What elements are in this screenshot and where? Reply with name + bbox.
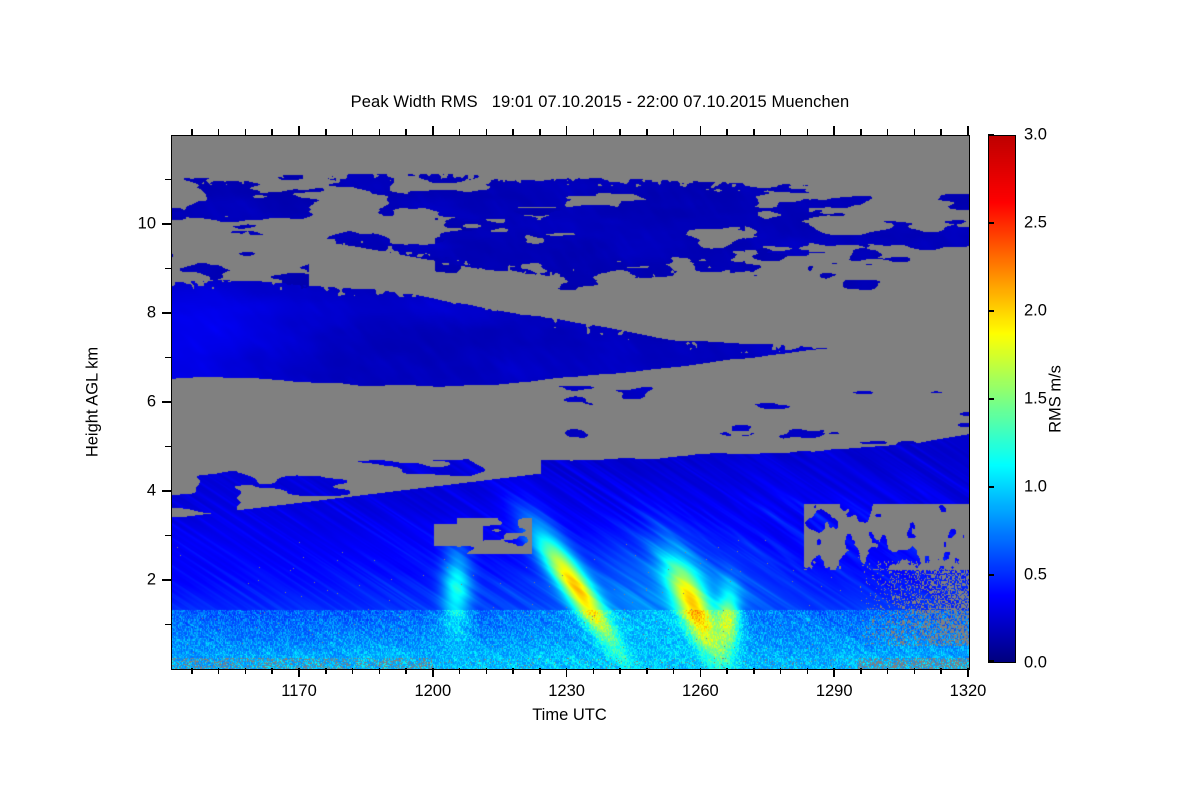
x-top-minor-tick — [245, 129, 247, 135]
x-top-minor-tick — [593, 129, 595, 135]
x-major-tick — [566, 668, 568, 677]
x-minor-tick — [486, 668, 488, 674]
x-minor-tick — [807, 668, 809, 674]
y-tick-label: 10 — [0, 215, 156, 234]
x-top-minor-tick — [860, 129, 862, 135]
x-minor-tick — [271, 668, 273, 674]
x-top-minor-tick — [940, 129, 942, 135]
colorbar-tick — [988, 222, 994, 224]
x-tick-label: 1260 — [682, 682, 719, 701]
colorbar-tick-label: 3.0 — [1024, 126, 1047, 145]
colorbar-tick-label: 0.5 — [1024, 566, 1047, 585]
y-minor-tick — [165, 624, 171, 626]
y-major-tick — [162, 312, 171, 314]
x-minor-tick — [405, 668, 407, 674]
x-top-minor-tick — [405, 129, 407, 135]
y-major-tick — [162, 490, 171, 492]
x-major-tick — [833, 668, 835, 677]
x-top-minor-tick — [379, 129, 381, 135]
colorbar-tick — [988, 486, 994, 488]
x-minor-tick — [459, 668, 461, 674]
x-top-tick — [967, 126, 969, 135]
colorbar-tick — [988, 310, 994, 312]
x-minor-tick — [780, 668, 782, 674]
x-tick-label: 1320 — [950, 682, 987, 701]
x-top-minor-tick — [486, 129, 488, 135]
x-minor-tick — [887, 668, 889, 674]
y-tick-label: 2 — [0, 571, 156, 590]
colorbar: RMS m/s 0.00.51.01.52.02.53.0 — [988, 135, 1016, 663]
x-tick-label: 1200 — [414, 682, 451, 701]
x-top-minor-tick — [780, 129, 782, 135]
x-top-minor-tick — [191, 129, 193, 135]
colorbar-tick-label: 2.0 — [1024, 302, 1047, 321]
x-top-minor-tick — [539, 129, 541, 135]
x-top-minor-tick — [459, 129, 461, 135]
x-minor-tick — [512, 668, 514, 674]
colorbar-tick-label: 1.5 — [1024, 390, 1047, 409]
x-minor-tick — [860, 668, 862, 674]
x-tick-label: 1290 — [816, 682, 853, 701]
colorbar-axis-label: RMS m/s — [1047, 365, 1066, 433]
colorbar-tick — [988, 398, 994, 400]
y-axis-label: Height AGL km — [84, 346, 103, 456]
x-minor-tick — [379, 668, 381, 674]
colorbar-tick — [988, 660, 994, 662]
x-major-tick — [298, 668, 300, 677]
plot-area — [171, 135, 970, 670]
x-minor-tick — [245, 668, 247, 674]
colorbar-tick-label: 1.0 — [1024, 478, 1047, 497]
colorbar-tick-label: 0.0 — [1024, 654, 1047, 673]
y-tick-label: 6 — [0, 393, 156, 412]
x-minor-tick — [593, 668, 595, 674]
x-top-minor-tick — [673, 129, 675, 135]
x-top-minor-tick — [619, 129, 621, 135]
x-top-minor-tick — [887, 129, 889, 135]
x-major-tick — [432, 668, 434, 677]
x-top-tick — [700, 126, 702, 135]
y-minor-tick — [165, 535, 171, 537]
x-minor-tick — [646, 668, 648, 674]
x-top-minor-tick — [352, 129, 354, 135]
colorbar-tick-label: 2.5 — [1024, 214, 1047, 233]
x-minor-tick — [325, 668, 327, 674]
x-top-tick — [432, 126, 434, 135]
colorbar-tick — [988, 574, 994, 576]
y-major-tick — [162, 579, 171, 581]
heatmap-canvas — [172, 136, 969, 669]
x-minor-tick — [726, 668, 728, 674]
x-top-minor-tick — [726, 129, 728, 135]
figure-canvas: Peak Width RMS 19:01 07.10.2015 - 22:00 … — [0, 0, 1200, 800]
x-tick-label: 1170 — [281, 682, 316, 701]
x-top-tick — [566, 126, 568, 135]
x-top-minor-tick — [512, 129, 514, 135]
x-top-minor-tick — [325, 129, 327, 135]
x-top-minor-tick — [914, 129, 916, 135]
x-minor-tick — [539, 668, 541, 674]
y-minor-tick — [165, 357, 171, 359]
y-minor-tick — [165, 446, 171, 448]
x-minor-tick — [753, 668, 755, 674]
x-top-minor-tick — [271, 129, 273, 135]
x-major-tick — [967, 668, 969, 677]
x-minor-tick — [673, 668, 675, 674]
y-major-tick — [162, 223, 171, 225]
x-minor-tick — [940, 668, 942, 674]
chart-title: Peak Width RMS 19:01 07.10.2015 - 22:00 … — [0, 93, 1200, 112]
y-minor-tick — [165, 179, 171, 181]
x-top-minor-tick — [218, 129, 220, 135]
x-minor-tick — [914, 668, 916, 674]
y-minor-tick — [165, 268, 171, 270]
x-minor-tick — [619, 668, 621, 674]
x-tick-label: 1230 — [548, 682, 585, 701]
x-top-minor-tick — [646, 129, 648, 135]
x-top-tick — [833, 126, 835, 135]
y-major-tick — [162, 401, 171, 403]
x-top-tick — [298, 126, 300, 135]
x-top-minor-tick — [753, 129, 755, 135]
x-top-minor-tick — [807, 129, 809, 135]
x-minor-tick — [218, 668, 220, 674]
x-minor-tick — [191, 668, 193, 674]
x-minor-tick — [352, 668, 354, 674]
colorbar-tick — [988, 134, 994, 136]
x-axis-label: Time UTC — [532, 706, 607, 725]
y-tick-label: 4 — [0, 482, 156, 501]
y-tick-label: 8 — [0, 304, 156, 323]
x-major-tick — [700, 668, 702, 677]
